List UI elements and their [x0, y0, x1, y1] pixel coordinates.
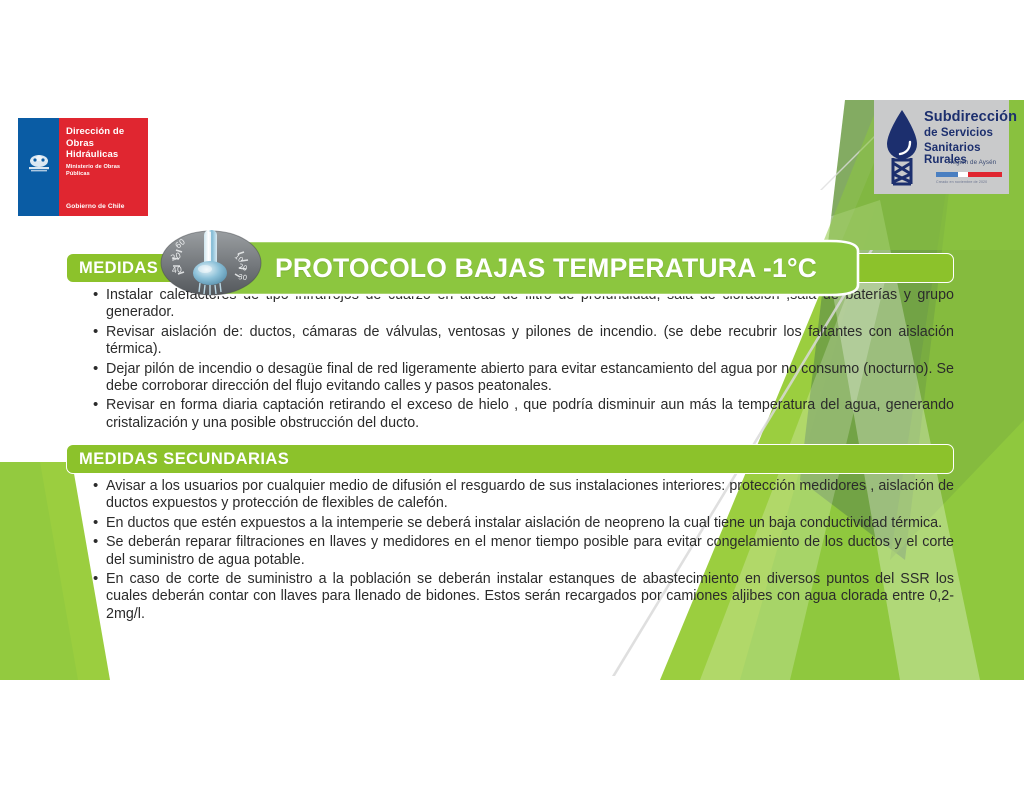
list-item: En caso de corte de suministro a la pobl…	[92, 571, 954, 622]
slide-content: MEDIDAS PRIMARIAS Instalar calefactores …	[0, 0, 1024, 791]
svg-text:30: 30	[238, 273, 248, 282]
svg-text:40: 40	[171, 265, 182, 275]
list-item: Avisar a los usuarios por cualquier medi…	[92, 478, 954, 512]
list-item: Revisar aislación de: ductos, cámaras de…	[92, 324, 954, 358]
ssr-title: Subdirección	[924, 109, 1017, 125]
section-header-secundarias: MEDIDAS SECUNDARIAS	[66, 444, 954, 474]
list-item: Dejar pilón de incendio o desagüe final …	[92, 361, 954, 395]
bullet-list-secundarias: Avisar a los usuarios por cualquier medi…	[92, 478, 954, 625]
ssr-subtitle-1: de Servicios	[924, 127, 993, 139]
ssr-region: Región de Aysén	[948, 159, 996, 166]
chile-flag-bar	[936, 172, 1002, 177]
section-title-secundarias: MEDIDAS SECUNDARIAS	[79, 450, 289, 469]
page-title: PROTOCOLO BAJAS TEMPERATURA -1°C	[275, 239, 842, 297]
list-item: Se deberán reparar filtraciones en llave…	[92, 534, 954, 568]
thermometer-icon: 60 20 40 10 20 30	[158, 228, 268, 298]
ssr-fineprint: Creado en noviembre de 2020	[936, 180, 987, 184]
list-item: En ductos que estén expuestos a la intem…	[92, 515, 954, 532]
title-banner: PROTOCOLO BAJAS TEMPERATURA -1°C	[215, 239, 860, 297]
slide-canvas: Dirección de Obras Hidráulicas Ministeri…	[0, 0, 1024, 791]
water-drop-tower-icon	[884, 108, 920, 186]
list-item: Revisar en forma diaria captación retira…	[92, 397, 954, 431]
subdirección-ssr-logo: Subdirección de Servicios Sanitarios Rur…	[874, 100, 1009, 194]
bullet-list-primarias: Instalar calefactores de tipo infrarrojo…	[92, 287, 954, 434]
